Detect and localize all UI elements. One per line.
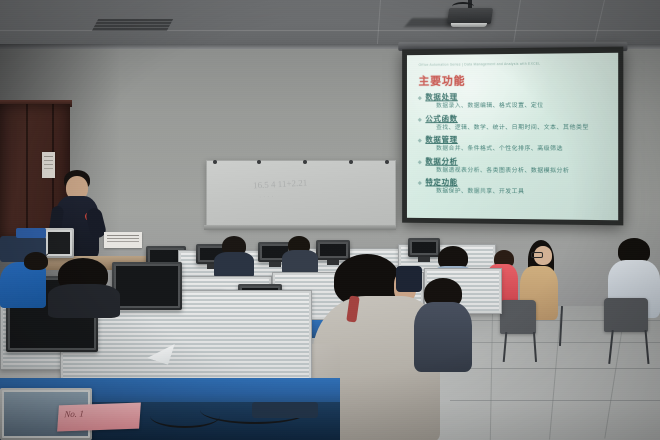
slide-section-detail: 数据保护、数据共享、开发工具	[417, 187, 612, 198]
student-collar	[396, 266, 422, 292]
chair	[500, 300, 536, 334]
slide-section-detail: 数据录入、数据编辑、格式设置、定位	[417, 102, 612, 112]
projection-screen: Office Automation Series | Data Manageme…	[402, 47, 623, 226]
slide-title: 主要功能	[419, 72, 466, 88]
glasses-icon	[531, 252, 543, 258]
monitor-far	[316, 240, 350, 260]
sticky-note: No. 1	[57, 403, 141, 432]
blue-folder	[16, 228, 46, 238]
slide-section: 公式函数 查找、逻辑、数学、统计、日期时间、文本、其他类型	[417, 113, 612, 132]
monitor-foreground	[112, 262, 182, 310]
slide-section-detail: 数据透视表分析、各类图表分析、数据模拟分析	[417, 166, 612, 176]
slide-section: 数据管理 数据合并、条件格式、个性化排序、高级筛选	[417, 135, 612, 154]
monitor-far	[408, 238, 440, 257]
ceiling-vent-icon	[92, 19, 173, 31]
sticky-note-text: No. 1	[58, 403, 141, 420]
keyboard	[252, 402, 318, 418]
slide-section-detail: 数据合并、条件格式、个性化排序、高级筛选	[417, 145, 612, 154]
slide-section-heading: 数据管理	[417, 135, 612, 145]
classroom-photo: Office Automation Series | Data Manageme…	[0, 0, 660, 440]
slide-section: 特定功能 数据保护、数据共享、开发工具	[417, 177, 612, 197]
slide-section: 数据分析 数据透视表分析、各类图表分析、数据模拟分析	[417, 156, 612, 176]
slide-section: 数据处理 数据录入、数据编辑、格式设置、定位	[417, 91, 612, 111]
slide-body: 数据处理 数据录入、数据编辑、格式设置、定位 公式函数 查找、逻辑、数学、统计、…	[417, 91, 612, 200]
whiteboard-marks: 16.5 4 11+2.21	[253, 178, 308, 191]
projector-icon	[447, 8, 493, 24]
podium-paper	[104, 232, 142, 248]
wall-notice	[42, 152, 55, 178]
whiteboard-tray	[204, 225, 396, 230]
slide-section-detail: 查找、逻辑、数学、统计、日期时间、文本、其他类型	[417, 123, 612, 132]
chair	[604, 298, 648, 332]
whiteboard: 16.5 4 11+2.21 · · · ·	[206, 160, 396, 228]
slide-section-heading: 公式函数	[417, 113, 612, 123]
slide-surface: Office Automation Series | Data Manageme…	[407, 53, 618, 220]
